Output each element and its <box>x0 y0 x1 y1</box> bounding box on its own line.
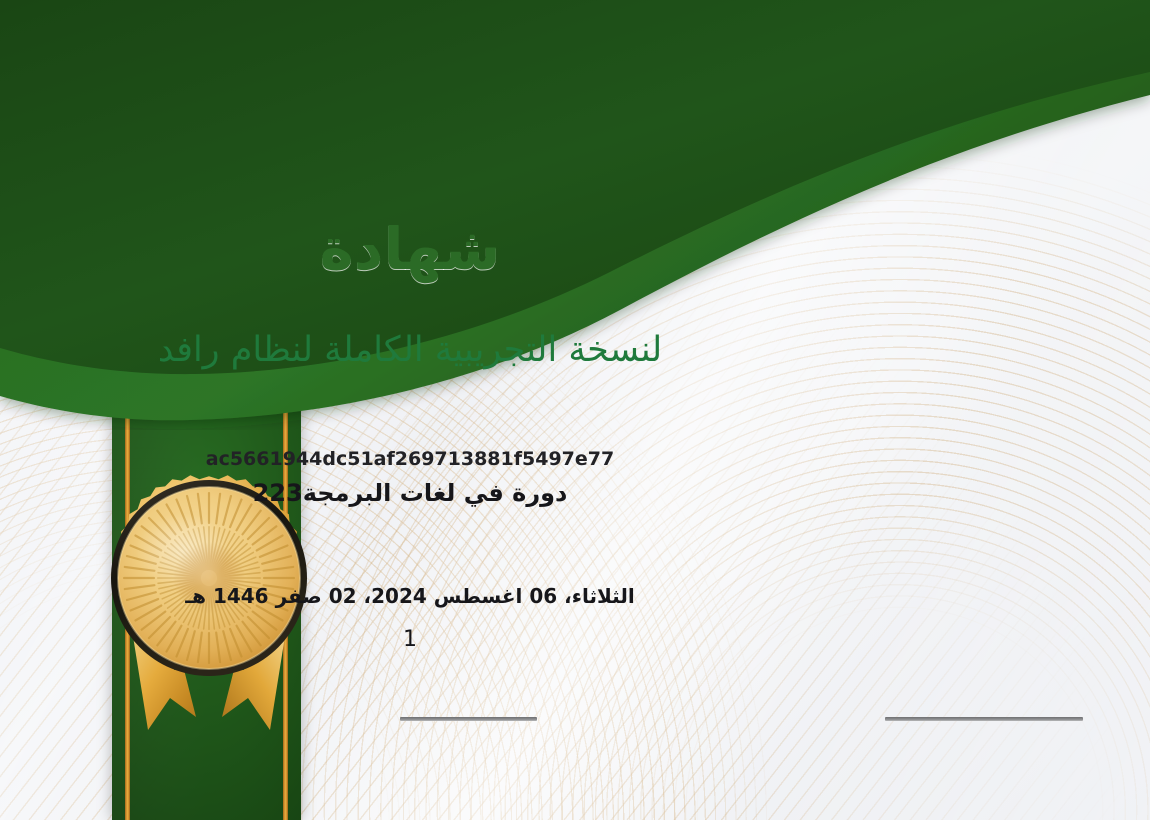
signature-line-right <box>885 717 1083 721</box>
page-number: 1 <box>0 627 1150 652</box>
certificate-page: شهادة لنسخة التجريبية الكاملة لنظام رافد… <box>0 0 1150 820</box>
verification-hash: ac5661944dc51af269713881f5497e77 <box>0 448 1150 470</box>
course-name: دورة في لغات البرمجة223 <box>0 479 1150 507</box>
issue-date: الثلاثاء، 06 اغسطس 2024، 02 صفر 1446 هـ <box>0 584 1150 608</box>
signature-line-left <box>400 717 537 721</box>
seal-glare <box>136 513 228 589</box>
certificate-subtitle: لنسخة التجريبية الكاملة لنظام رافد <box>0 330 1150 370</box>
certificate-title: شهادة <box>0 215 1150 283</box>
